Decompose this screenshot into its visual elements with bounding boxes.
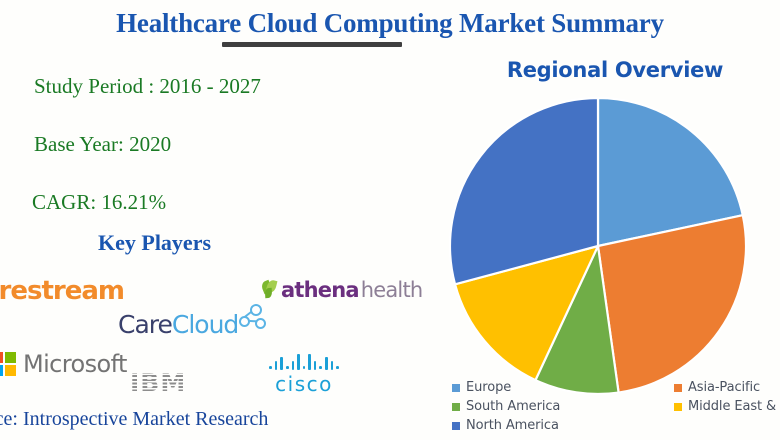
legend-label: South America xyxy=(466,399,560,414)
legend-column-left: EuropeSouth AmericaNorth America xyxy=(452,378,560,435)
pie-slice-group xyxy=(450,98,746,394)
study-period-text: Study Period : 2016 - 2027 xyxy=(34,74,261,99)
cisco-wordmark: cisco xyxy=(264,372,344,396)
logo-microsoft: Microsoft xyxy=(0,350,127,378)
logo-athenahealth: athena health xyxy=(262,278,422,302)
legend-swatch-icon xyxy=(674,403,682,411)
athena-wordmark-light: health xyxy=(361,278,423,302)
regional-overview-title: Regional Overview xyxy=(455,58,775,82)
logo-cisco: cisco xyxy=(264,352,344,396)
pie-chart-svg xyxy=(440,92,760,397)
cisco-bars-icon xyxy=(264,352,344,370)
carecloud-wordmark-cloud: Cloud xyxy=(172,310,238,339)
legend-label: Middle East & Af xyxy=(688,399,780,414)
microsoft-squares-icon xyxy=(0,352,16,376)
legend-swatch-icon xyxy=(452,384,460,392)
page-title: Healthcare Cloud Computing Market Summar… xyxy=(0,8,780,39)
legend-label: Asia-Pacific xyxy=(688,380,760,395)
chart-legend: EuropeSouth AmericaNorth America Asia-Pa… xyxy=(452,378,780,438)
legend-item[interactable]: Middle East & Af xyxy=(674,397,780,416)
microsoft-wordmark: Microsoft xyxy=(23,350,127,378)
ibm-wordmark: IBM xyxy=(130,368,186,397)
legend-swatch-icon xyxy=(452,422,460,430)
legend-label: Europe xyxy=(466,380,511,395)
ibm-wordmark-text: IBM xyxy=(130,368,186,397)
legend-swatch-icon xyxy=(452,403,460,411)
base-year-text: Base Year: 2020 xyxy=(34,132,171,157)
logo-ibm: IBM xyxy=(130,368,186,397)
source-text: urce: Introspective Market Research xyxy=(0,408,268,431)
network-node-icon xyxy=(239,304,265,330)
slide-canvas: Healthcare Cloud Computing Market Summar… xyxy=(0,0,780,440)
logo-carecloud: Care Cloud xyxy=(118,310,265,339)
legend-swatch-icon xyxy=(674,384,682,392)
legend-item[interactable]: Europe xyxy=(452,378,560,397)
carestream-wordmark: arestream xyxy=(0,276,124,306)
logo-carestream: arestream xyxy=(0,276,124,306)
legend-column-right: Asia-PacificMiddle East & Af xyxy=(674,378,780,416)
legend-label: North America xyxy=(466,418,559,433)
pie-slice-asia-pacific[interactable] xyxy=(598,215,746,392)
title-underline-rule xyxy=(222,42,402,47)
legend-item[interactable]: Asia-Pacific xyxy=(674,378,780,397)
carecloud-wordmark-care: Care xyxy=(118,310,172,339)
leaf-icon xyxy=(262,280,279,300)
pie-chart xyxy=(440,92,760,397)
legend-item[interactable]: North America xyxy=(452,416,560,435)
legend-item[interactable]: South America xyxy=(452,397,560,416)
cagr-text: CAGR: 16.21% xyxy=(32,190,166,215)
athena-wordmark-bold: athena xyxy=(281,278,359,302)
key-players-heading: Key Players xyxy=(98,230,211,256)
